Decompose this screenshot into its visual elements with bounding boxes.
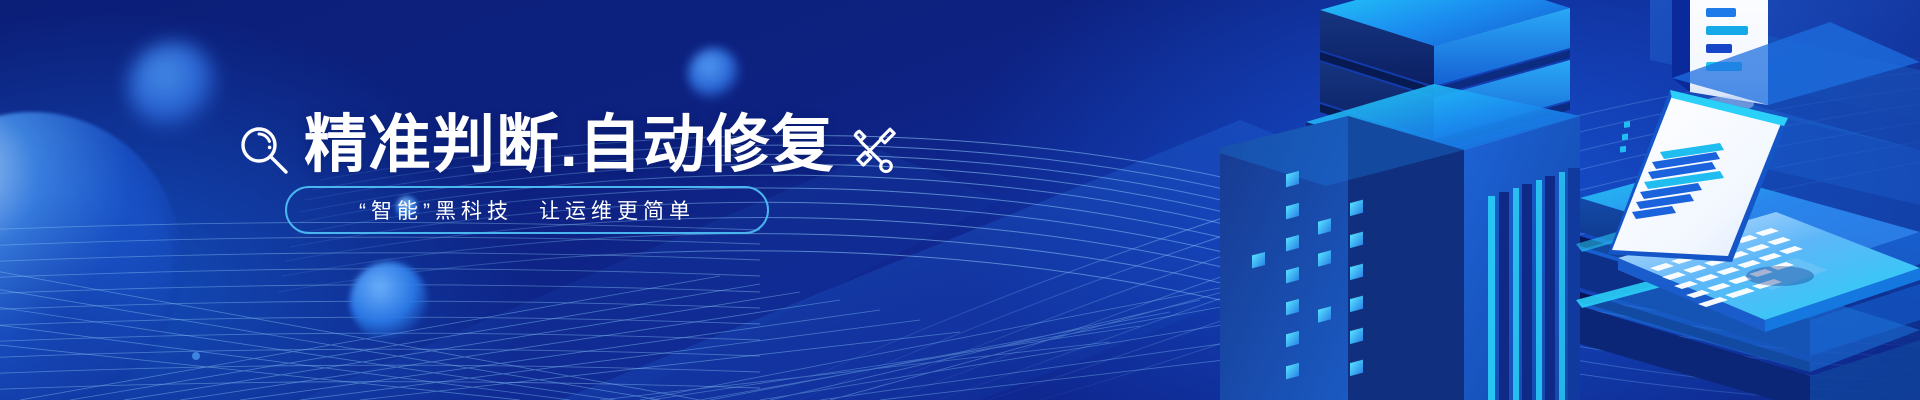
isometric-tower-center — [1464, 116, 1580, 400]
wrench-screwdriver-icon — [849, 122, 901, 174]
glow-sphere — [350, 262, 428, 340]
isometric-illustration — [1220, 0, 1920, 400]
search-magnifier-icon — [236, 122, 292, 178]
promo-banner: 精准判断.自动修复 “智能”黑科技 让运维更简单 — [0, 0, 1920, 400]
headline-block: 精准判断.自动修复 — [236, 104, 1036, 186]
subtitle-pill: “智能”黑科技 让运维更简单 — [285, 186, 769, 234]
title-row: 精准判断.自动修复 — [236, 104, 1036, 186]
subtitle-text: “智能”黑科技 让运维更简单 — [359, 195, 695, 225]
glow-sphere — [688, 48, 740, 100]
glow-sphere — [128, 42, 220, 134]
globe-graphic — [0, 112, 182, 400]
page-title: 精准判断.自动修复 — [304, 111, 835, 179]
